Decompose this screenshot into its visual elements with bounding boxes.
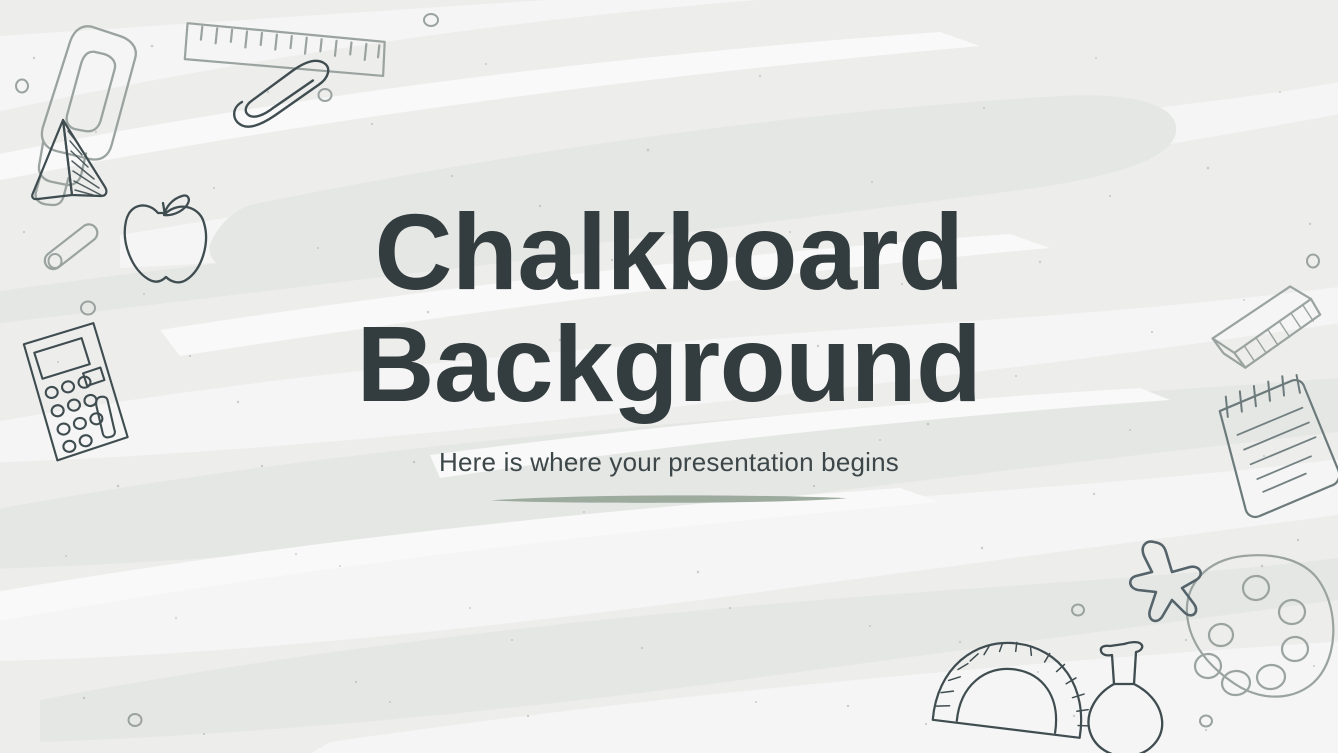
presentation-slide: Chalkboard Background Here is where your… — [0, 0, 1338, 753]
slide-text-block: Chalkboard Background Here is where your… — [0, 196, 1338, 504]
underline-brushstroke-icon — [489, 493, 849, 505]
pyramid-doodle — [32, 120, 106, 199]
ruler-doodle — [184, 21, 387, 80]
page-title-line-2: Background — [0, 308, 1338, 420]
paperclip-doodle — [226, 57, 338, 132]
paint-palette-doodle — [1187, 555, 1333, 696]
page-subtitle: Here is where your presentation begins — [0, 447, 1338, 478]
underline-brushstroke-wrap — [489, 492, 849, 504]
page-title: Chalkboard Background — [0, 196, 1338, 421]
cross-mark-doodle — [1130, 542, 1200, 621]
highlighter-marker-doodle — [5, 18, 154, 220]
page-title-line-1: Chalkboard — [0, 196, 1338, 308]
flask-doodle — [1088, 642, 1162, 753]
protractor-doodle — [933, 633, 1099, 738]
